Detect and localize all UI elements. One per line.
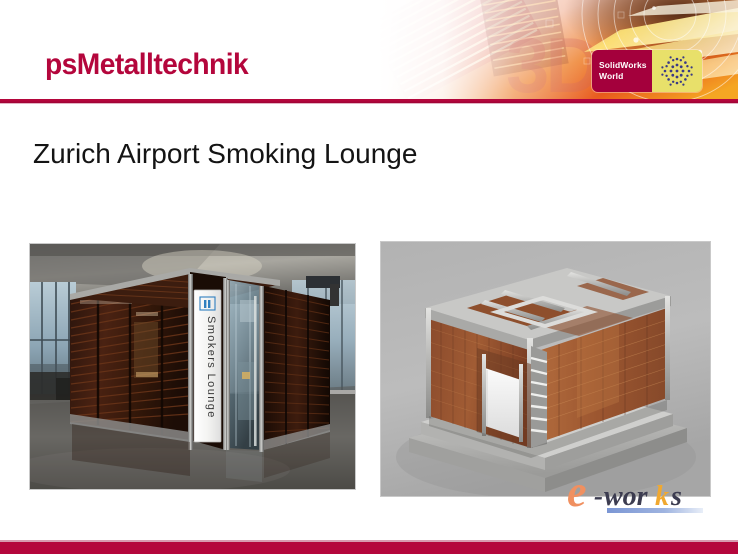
photo-smoking-lounge-cad-render [380, 241, 711, 497]
photo-smoking-lounge-interior: Smokers Lounge [29, 243, 356, 490]
eworks-logo: e - wor k s [565, 472, 715, 516]
solidworks-world-logo-line2: World [599, 71, 652, 82]
brand-title: psMetalltechnik [45, 48, 248, 82]
page-title: Zurich Airport Smoking Lounge [33, 138, 417, 170]
footer-bar [0, 542, 738, 554]
svg-text:s: s [670, 481, 682, 512]
presentation-slide: 3D [0, 0, 738, 554]
svg-text:e: e [567, 472, 587, 516]
svg-text:k: k [655, 481, 669, 512]
solidworks-world-logo-line1: SolidWorks [599, 60, 652, 71]
solidworks-world-logo: SolidWorks World [592, 50, 702, 92]
solidworks-world-logo-text: SolidWorks World [592, 50, 652, 92]
dot-circle-pattern-icon [652, 50, 702, 92]
svg-text:-: - [594, 481, 603, 511]
header-divider-rule-soft [0, 103, 738, 104]
svg-text:wor: wor [604, 481, 649, 512]
svg-text:Smokers Lounge: Smokers Lounge [205, 316, 217, 419]
slide-header: 3D [0, 0, 738, 104]
